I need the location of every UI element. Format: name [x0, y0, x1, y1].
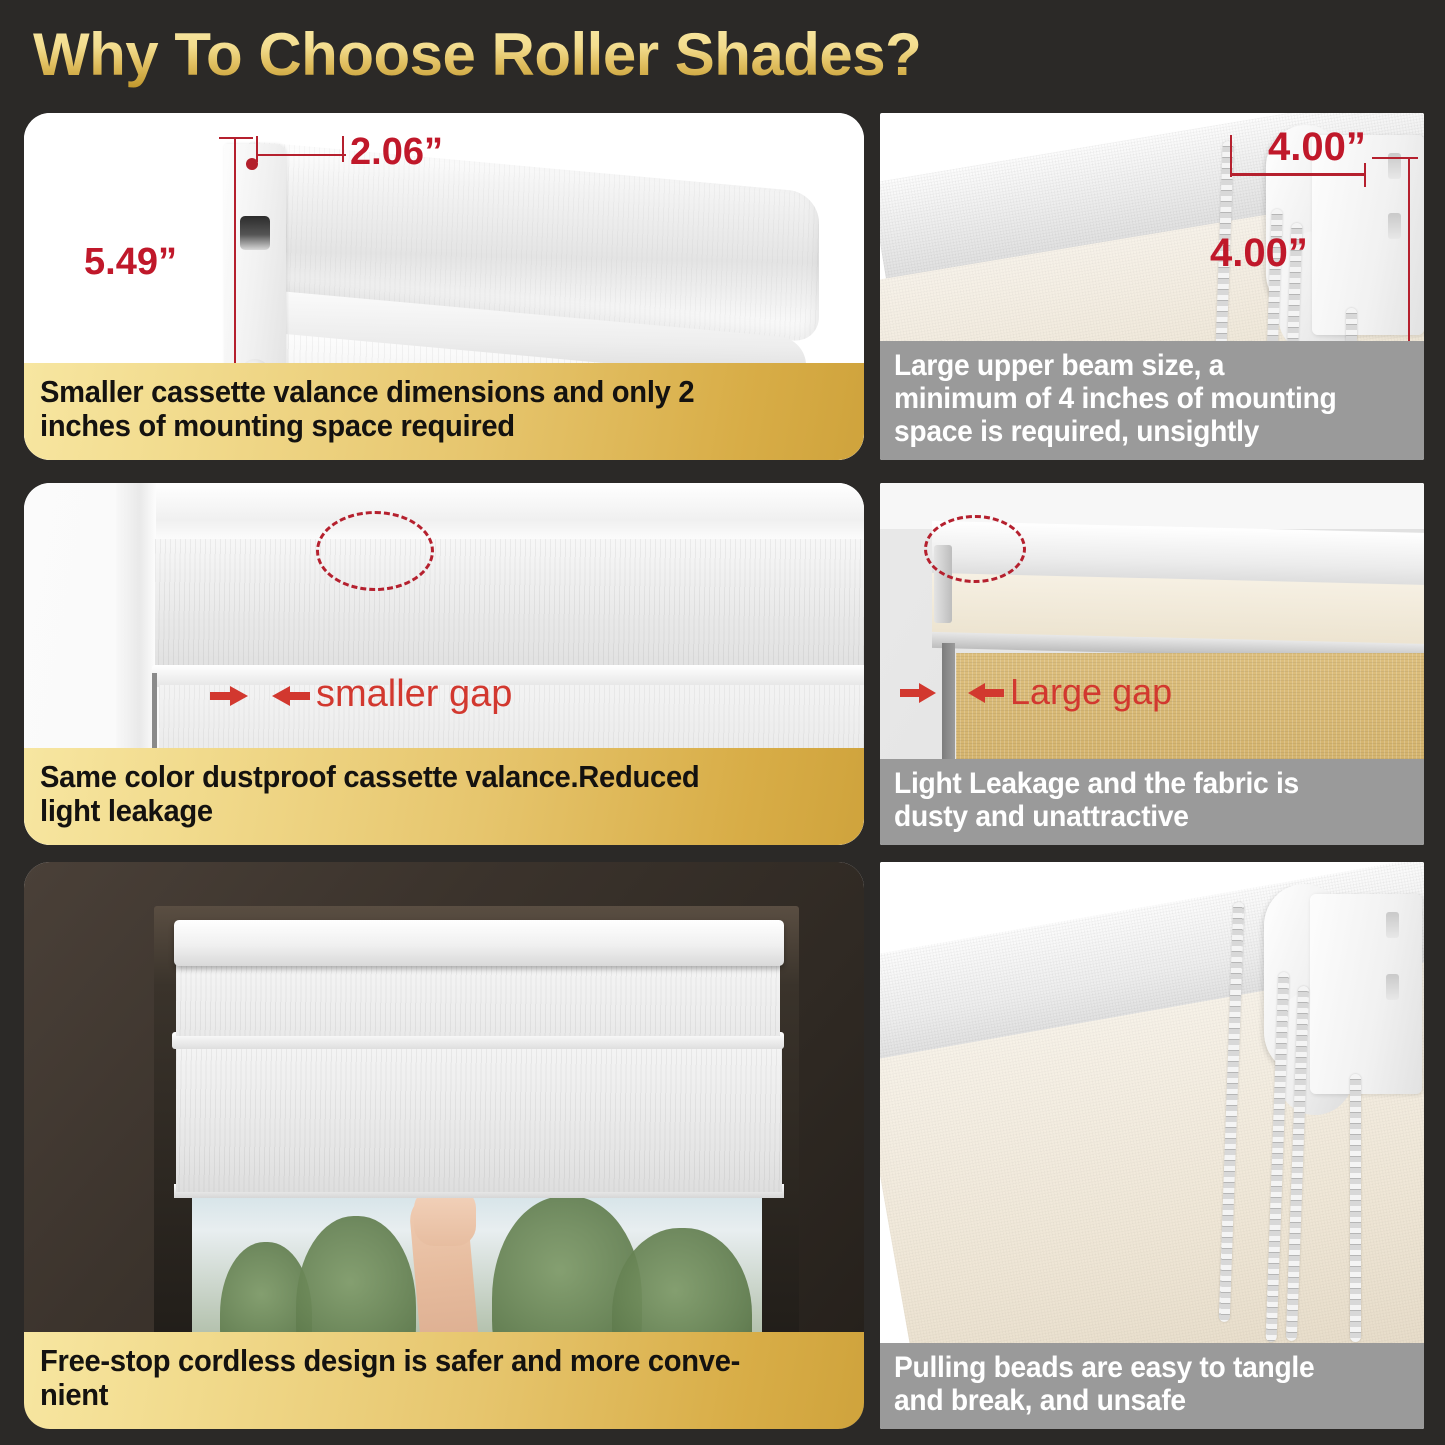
arrow-left-icon	[270, 683, 310, 709]
caption-line: and break, and unsafe	[894, 1384, 1379, 1417]
bracket-slot	[240, 216, 270, 250]
height-dimension-label: 5.49”	[84, 241, 177, 284]
shade-head-rail	[174, 920, 784, 966]
width-dim-tick-left	[1230, 135, 1232, 177]
width-dimension-label: 4.00”	[1268, 125, 1366, 170]
caption-line: Same color dustproof cassette valance.Re…	[40, 760, 800, 793]
infographic-root: Why To Choose Roller Shades? 2.06” 5.49”	[0, 0, 1445, 1445]
caption-line: Pulling beads are easy to tangle	[894, 1351, 1379, 1384]
arrow-left-icon	[966, 681, 1004, 705]
arrow-right-icon	[900, 681, 938, 705]
gap-callout-label: Large gap	[1010, 671, 1172, 713]
caption-line: Smaller cassette valance dimensions and …	[40, 375, 800, 408]
caption-line: nient	[40, 1378, 800, 1411]
caption-bar-pro-dustproof: Same color dustproof cassette valance.Re…	[24, 748, 864, 845]
height-dimension-label: 4.00”	[1210, 231, 1308, 276]
height-dim-tick-top	[219, 137, 253, 139]
panel-con-large-upper-beam: 4.00” 4.00” Large upper beam size, a min…	[880, 113, 1424, 460]
bead-chain	[1350, 1074, 1361, 1342]
caption-bar-con-light-leakage: Light Leakage and the fabric is dusty an…	[880, 759, 1424, 845]
caption-line: dusty and unattractive	[894, 800, 1379, 833]
shade-upper-fabric	[176, 958, 780, 1036]
highlight-circle-icon	[316, 511, 434, 591]
height-dim-tick-top	[1372, 157, 1418, 159]
caption-line: Large upper beam size, a	[894, 349, 1379, 382]
highlight-circle-icon	[924, 515, 1026, 583]
shade-upper-fabric	[155, 539, 864, 667]
width-dimension-label: 2.06”	[350, 131, 443, 174]
caption-line: Free-stop cordless design is safer and m…	[40, 1344, 800, 1377]
mounting-plate	[1310, 894, 1422, 1094]
panel-pro-dustproof-valance: smaller gap Same color dustproof cassett…	[24, 483, 864, 845]
shade-lower-fabric	[176, 1046, 782, 1192]
caption-bar-con-pulling-beads: Pulling beads are easy to tangle and bre…	[880, 1343, 1424, 1429]
panel-con-pulling-beads: Pulling beads are easy to tangle and bre…	[880, 862, 1424, 1429]
caption-line: Light Leakage and the fabric is	[894, 767, 1379, 800]
caption-bar-pro-cordless: Free-stop cordless design is safer and m…	[24, 1332, 864, 1429]
gap-callout-label: smaller gap	[316, 673, 512, 716]
caption-line: space is required, unsightly	[894, 415, 1379, 448]
width-dim-line	[256, 154, 346, 156]
caption-bar-pro-cassette: Smaller cassette valance dimensions and …	[24, 363, 864, 460]
page-title: Why To Choose Roller Shades?	[33, 20, 921, 89]
caption-bar-con-upper-beam: Large upper beam size, a minimum of 4 in…	[880, 341, 1424, 460]
window-frame-left	[116, 483, 156, 783]
arrow-right-icon	[210, 683, 250, 709]
panel-pro-cassette-dimensions: 2.06” 5.49” Smaller cassette valance dim…	[24, 113, 864, 460]
width-dim-tick-left	[256, 136, 258, 162]
caption-line: light leakage	[40, 794, 800, 827]
width-dim-tick-right	[342, 136, 344, 162]
window-frame-top	[116, 483, 864, 545]
height-dim-line	[1408, 157, 1410, 347]
panel-con-light-leakage: Large gap Light Leakage and the fabric i…	[880, 483, 1424, 845]
caption-line: inches of mounting space required	[40, 409, 800, 442]
panel-pro-cordless-design: Free-stop cordless design is safer and m…	[24, 862, 864, 1429]
caption-line: minimum of 4 inches of mounting	[894, 382, 1379, 415]
width-dim-line	[1230, 173, 1366, 176]
